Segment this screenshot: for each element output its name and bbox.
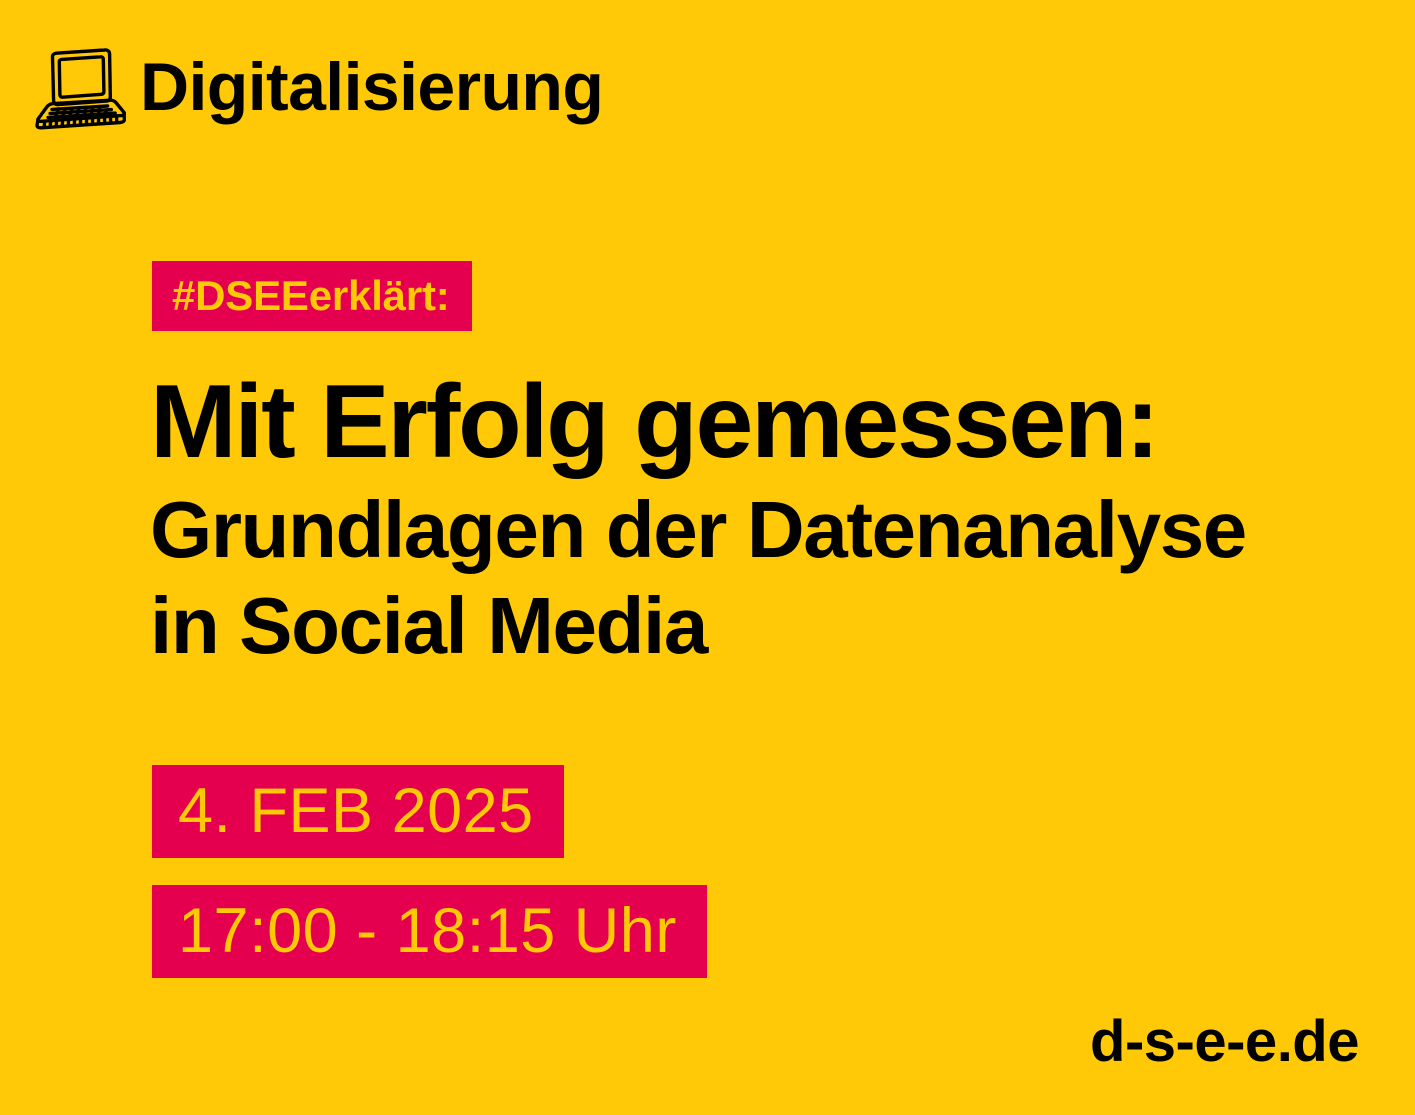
event-poster: Digitalisierung #DSEEerklärt: Mit Erfolg… xyxy=(0,0,1415,1115)
page-title: Mit Erfolg gemessen: xyxy=(150,368,1390,476)
page-subtitle-line-1: Grundlagen der Datenanalyse xyxy=(150,482,1390,578)
headline-block: Mit Erfolg gemessen: Grundlagen der Date… xyxy=(150,368,1390,674)
page-subtitle: Grundlagen der Datenanalyse in Social Me… xyxy=(150,476,1390,674)
topic-label: Digitalisierung xyxy=(140,53,603,121)
laptop-icon xyxy=(28,46,126,134)
website-url: d-s-e-e.de xyxy=(1090,1013,1359,1071)
time-badge-label: 17:00 - 18:15 Uhr xyxy=(178,900,677,963)
date-badge: 4. FEB 2025 xyxy=(152,765,564,858)
hashtag-badge-label: #DSEEerklärt: xyxy=(172,275,450,317)
date-badge-label: 4. FEB 2025 xyxy=(178,780,534,843)
topic-header: Digitalisierung xyxy=(28,44,603,136)
page-subtitle-line-2: in Social Media xyxy=(150,578,1390,674)
hashtag-badge: #DSEEerklärt: xyxy=(152,261,472,331)
time-badge: 17:00 - 18:15 Uhr xyxy=(152,885,707,978)
